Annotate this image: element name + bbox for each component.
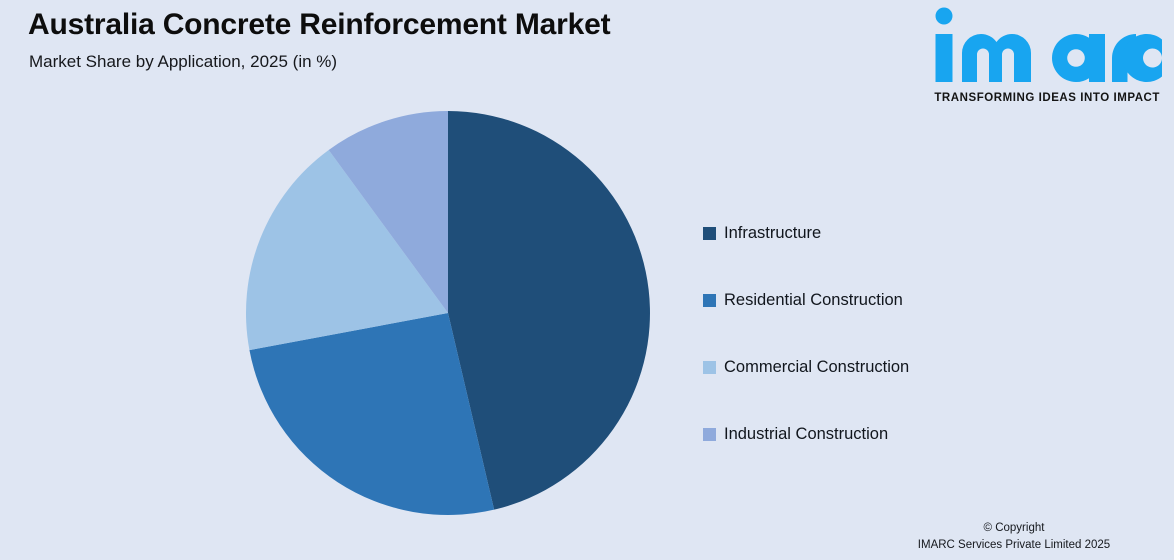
chart-legend: Infrastructure Residential Construction …: [703, 200, 1003, 468]
page-title: Australia Concrete Reinforcement Market: [28, 8, 610, 42]
legend-item-residential-construction[interactable]: Residential Construction: [703, 267, 1003, 334]
legend-label: Commercial Construction: [724, 358, 909, 377]
legend-swatch-icon: [703, 227, 716, 240]
legend-item-infrastructure[interactable]: Infrastructure: [703, 200, 1003, 267]
page-subtitle: Market Share by Application, 2025 (in %): [29, 52, 337, 72]
chart-canvas: Australia Concrete Reinforcement Market …: [0, 0, 1174, 560]
imarc-logo: TRANSFORMING IDEAS INTO IMPACT: [922, 6, 1162, 110]
pie-slice-group: [246, 111, 650, 515]
imarc-wordmark-icon: [926, 6, 1162, 84]
legend-item-industrial-construction[interactable]: Industrial Construction: [703, 401, 1003, 468]
legend-label: Infrastructure: [724, 224, 821, 243]
legend-item-commercial-construction[interactable]: Commercial Construction: [703, 334, 1003, 401]
legend-swatch-icon: [703, 294, 716, 307]
legend-swatch-icon: [703, 361, 716, 374]
legend-label: Industrial Construction: [724, 425, 888, 444]
pie-chart: [246, 111, 650, 515]
logo-tagline: TRANSFORMING IDEAS INTO IMPACT: [934, 92, 1160, 104]
pie-chart-svg: [246, 111, 650, 515]
legend-label: Residential Construction: [724, 291, 903, 310]
footer-entity: IMARC Services Private Limited 2025: [864, 537, 1164, 554]
footer-copyright: © Copyright: [864, 520, 1164, 537]
footer: © Copyright IMARC Services Private Limit…: [864, 520, 1164, 554]
legend-swatch-icon: [703, 428, 716, 441]
